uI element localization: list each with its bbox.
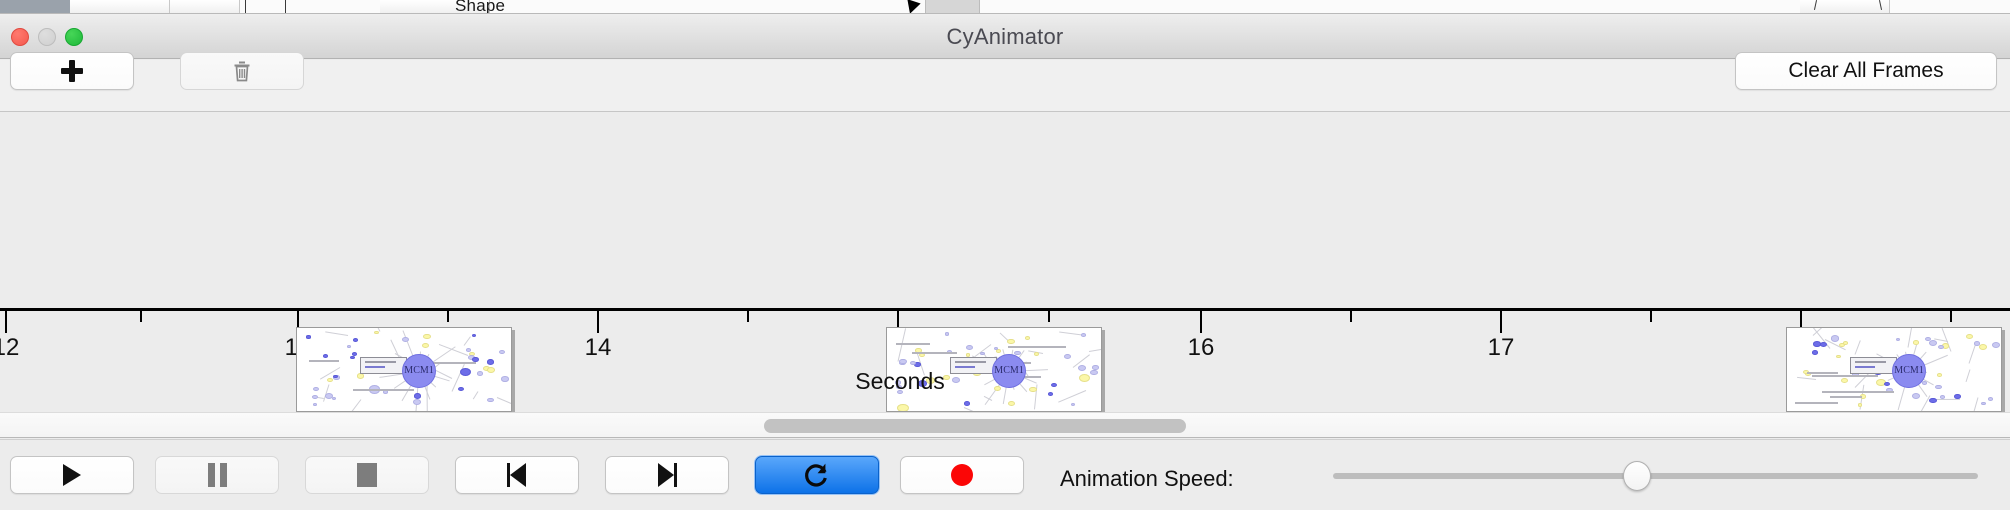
pause-button[interactable]: [155, 456, 279, 494]
slider-track[interactable]: [1333, 473, 1978, 479]
background-dark-segment: [0, 0, 70, 14]
network-node: [499, 350, 505, 354]
title-bar[interactable]: CyAnimator: [0, 14, 2010, 59]
delete-frame-button[interactable]: [180, 52, 304, 90]
timeline-tick-label: 16: [1188, 334, 1215, 362]
network-edge: [347, 400, 362, 412]
network-node: [899, 359, 907, 365]
skip-back-button[interactable]: [455, 456, 579, 494]
axis-title-label: Seconds: [855, 368, 945, 394]
loop-button[interactable]: [755, 456, 879, 494]
network-node: [1988, 397, 1994, 401]
network-node: [347, 345, 351, 348]
background-window-strip: Shape: [0, 0, 2010, 14]
horizontal-scrollbar[interactable]: [0, 412, 2010, 438]
network-node: [1071, 403, 1075, 406]
network-node: [1836, 355, 1841, 359]
network-node: [1979, 344, 1987, 350]
timeline-panel[interactable]: 12131415161718 MCM1MCM1MCM1 Seconds: [0, 112, 2010, 412]
play-icon: [63, 464, 81, 486]
network-node: [1081, 333, 1086, 337]
cyanimator-window: Shape CyAnimator Clear All Frames: [0, 0, 2010, 510]
stop-icon: [357, 463, 377, 487]
network-edge: [975, 344, 992, 357]
network-node: [897, 404, 909, 412]
network-node: [487, 398, 494, 403]
network-node: [964, 401, 970, 406]
network-node: [323, 354, 328, 358]
network-node: [1831, 335, 1839, 341]
timeline-tick-minor: [1650, 311, 1652, 322]
maximize-button[interactable]: [65, 28, 83, 46]
network-node: [312, 395, 318, 399]
network-edge: [1907, 327, 1913, 347]
play-button[interactable]: [10, 456, 134, 494]
slider-thumb[interactable]: [1623, 461, 1651, 491]
traffic-lights: [11, 28, 83, 46]
network-edge: [1934, 399, 1960, 400]
network-node: [423, 334, 431, 340]
network-edge: [463, 336, 470, 346]
network-edge: [1970, 397, 1978, 412]
network-node: [910, 361, 916, 365]
network-node: [980, 352, 985, 355]
timeline-tick-minor: [747, 311, 749, 322]
skip-forward-button[interactable]: [605, 456, 729, 494]
clear-all-frames-button[interactable]: Clear All Frames: [1735, 52, 1997, 90]
network-node: [1858, 403, 1863, 406]
timeline-tick-minor: [1950, 311, 1952, 322]
network-node: [1896, 338, 1900, 341]
network-node: [1064, 354, 1072, 359]
network-label-text: [912, 352, 957, 354]
timeline-axis: [0, 308, 2010, 311]
network-label-text: [1830, 396, 1862, 398]
window-title: CyAnimator: [0, 14, 2010, 59]
cursor-arrow-icon: [903, 0, 920, 14]
animation-speed-label: Animation Speed:: [1060, 466, 1234, 492]
clear-all-frames-label: Clear All Frames: [1788, 59, 1943, 83]
network-node: [1820, 342, 1827, 347]
pause-icon: [208, 463, 227, 487]
animation-speed-slider[interactable]: [1333, 473, 1978, 479]
plus-icon: [61, 60, 83, 82]
timeline-tick-major: [1500, 311, 1502, 333]
minimize-button[interactable]: [38, 28, 56, 46]
timeline-tick-minor: [1350, 311, 1352, 322]
background-tick: [285, 0, 286, 14]
network-node: [332, 397, 336, 400]
network-node: [487, 359, 495, 364]
network-label-text: [896, 343, 929, 345]
network-edge: [496, 397, 512, 409]
loop-icon: [803, 461, 831, 489]
network-node: [472, 334, 476, 337]
timeline-tick-major: [597, 311, 599, 333]
network-node: [966, 345, 973, 350]
timeline-tick-label: 14: [585, 334, 612, 362]
network-node: [422, 343, 429, 348]
network-edge: [1855, 340, 1861, 355]
trash-icon: [231, 59, 253, 83]
axis-title: Seconds: [0, 368, 2010, 395]
background-shape-label: Shape: [455, 0, 505, 14]
network-node: [374, 331, 378, 334]
network-node: [1929, 340, 1937, 346]
skip-forward-icon: [656, 463, 678, 487]
network-node: [1981, 402, 1986, 405]
network-node: [1966, 334, 1973, 339]
network-node: [1929, 398, 1937, 404]
network-node: [1992, 342, 2000, 348]
network-edge: [1968, 344, 1975, 363]
network-node: [306, 335, 310, 338]
timeline-tick-label: 12: [0, 334, 19, 362]
network-node: [353, 338, 359, 342]
timeline-tick-minor: [447, 311, 449, 322]
network-node: [1843, 341, 1848, 345]
playback-controls: Animation Speed:: [0, 439, 2010, 510]
timeline-tick-minor: [1048, 311, 1050, 322]
network-node: [1938, 345, 1944, 349]
background-tick: [245, 0, 246, 14]
network-label-text: [309, 360, 339, 362]
network-node: [1007, 339, 1015, 345]
timeline-tick-major: [1200, 311, 1202, 333]
add-frame-button[interactable]: [10, 52, 134, 90]
timeline-tick-major: [5, 311, 7, 333]
network-node: [350, 356, 355, 359]
network-node: [1913, 340, 1920, 345]
network-edge: [897, 329, 906, 362]
network-node: [413, 399, 421, 405]
background-segment: [70, 0, 170, 14]
network-edge: [1920, 395, 1930, 412]
background-segment: [925, 0, 980, 14]
network-node: [1025, 336, 1030, 340]
network-node: [1812, 350, 1818, 355]
network-node: [313, 403, 318, 406]
network-label-text: [1795, 402, 1838, 404]
network-label-text: [1008, 346, 1066, 348]
scrollbar-thumb[interactable]: [764, 419, 1186, 433]
network-node: [1813, 341, 1821, 346]
record-icon: [951, 464, 973, 486]
timeline-tick-label: 17: [1488, 334, 1515, 362]
stop-button[interactable]: [305, 456, 429, 494]
network-node: [945, 332, 950, 335]
network-edge: [1089, 347, 1102, 353]
network-node: [1034, 352, 1039, 356]
background-segment: [170, 0, 240, 14]
record-button[interactable]: [900, 456, 1024, 494]
skip-back-icon: [506, 463, 528, 487]
network-edge: [325, 332, 348, 337]
close-button[interactable]: [11, 28, 29, 46]
timeline-tick-minor: [140, 311, 142, 322]
network-node: [1008, 401, 1015, 406]
